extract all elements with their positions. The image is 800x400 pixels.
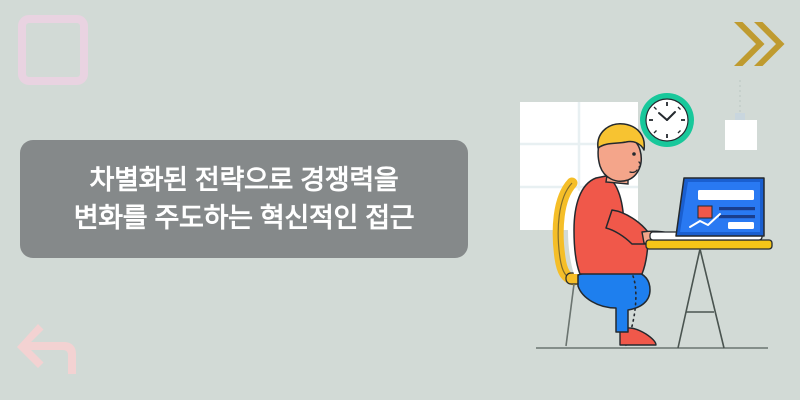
poster-canvas: 차별화된 전략으로 경쟁력을 변화를 주도하는 혁신적인 접근 [0, 0, 800, 400]
laptop [650, 178, 764, 240]
headline-line-2: 변화를 주도하는 혁신적인 접근 [74, 199, 415, 237]
reply-arrow-icon [14, 318, 88, 380]
wall-clock-icon [640, 93, 694, 147]
illustration-person-at-desk [500, 80, 800, 380]
headline-line-1: 차별화된 전략으로 경쟁력을 [90, 161, 399, 199]
rounded-square-outline-icon [18, 15, 88, 85]
double-chevron-right-icon [730, 18, 786, 74]
desk [646, 240, 772, 348]
pendant-lamp-icon [725, 80, 757, 150]
headline-box: 차별화된 전략으로 경쟁력을 변화를 주도하는 혁신적인 접근 [20, 140, 468, 258]
